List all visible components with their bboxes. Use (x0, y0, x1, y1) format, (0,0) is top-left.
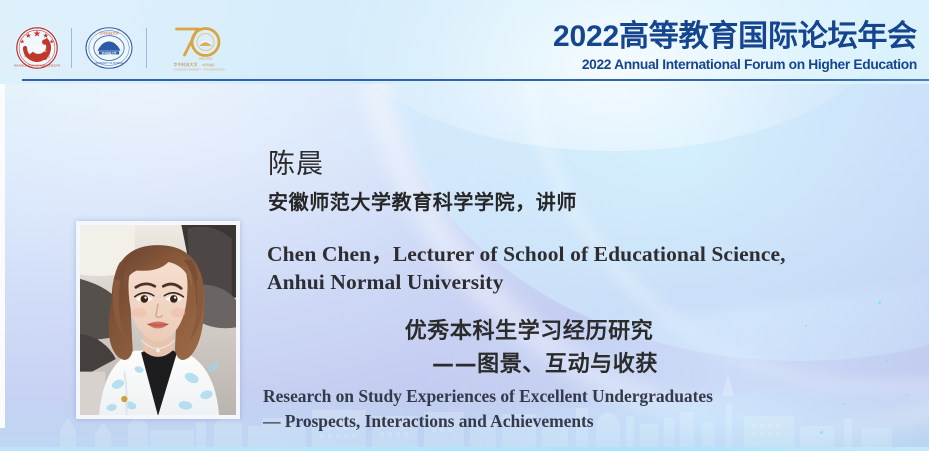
speaker-name-title-en: Chen Chen，Lecturer of School of Educatio… (267, 240, 797, 296)
svg-text:UNIVERSITY OF SCIENCE: UNIVERSITY OF SCIENCE (95, 63, 124, 65)
svg-text:1952-2022: 1952-2022 (198, 57, 213, 61)
speaker-portrait-image (80, 225, 236, 415)
speaker-affiliation-cn: 安徽师范大学教育科学学院，讲师 (268, 189, 577, 215)
header-divider-rule (22, 79, 929, 81)
logo-strip: CAHE 中国高等教育学会 CHINA ASSOCIATION OF HIGHE… (14, 22, 234, 74)
topic-title-en: Research on Study Experiences of Excelle… (263, 384, 823, 434)
svg-text:中国高等教育学会: 中国高等教育学会 (24, 53, 51, 58)
presentation-slide: CAHE 中国高等教育学会 CHINA ASSOCIATION OF HIGHE… (0, 0, 929, 451)
svg-text:HUAZHONG UNIVERSITY · 70TH A: HUAZHONG UNIVERSITY · 70TH ANNIVERSARY (174, 69, 227, 72)
forum-title-block: 2022高等教育国际论坛年会 2022 Annual International… (553, 20, 917, 73)
forum-title-cn: 2022高等教育国际论坛年会 (553, 20, 917, 53)
topic-title-cn-line2: ——图景、互动与收获 (268, 348, 790, 381)
svg-text:华中科技大学: 华中科技大学 (174, 61, 198, 67)
university-seal-icon: 华中科技大学 华中科技大学 UNIVERSITY OF SCIENCE (83, 25, 135, 71)
topic-title-en-line2: — Prospects, Interactions and Achievemen… (263, 409, 823, 434)
topic-title-en-line1: Research on Study Experiences of Excelle… (263, 384, 823, 409)
anniversary-70-icon: 1952-2022 华中科技大学 70周年校庆 HUAZHONG UNIVERS… (158, 22, 234, 74)
logo-divider (71, 28, 72, 68)
slide-header: CAHE 中国高等教育学会 CHINA ASSOCIATION OF HIGHE… (0, 0, 929, 84)
svg-text:华中科技大学: 华中科技大学 (102, 51, 117, 55)
forum-title-en: 2022 Annual International Forum on Highe… (559, 55, 917, 73)
svg-text:CHINA ASSOCIATION OF HIGHER ED: CHINA ASSOCIATION OF HIGHER EDUCATION (14, 64, 60, 67)
topic-title-cn: 优秀本科生学习经历研究 ——图景、互动与收获 (268, 315, 790, 381)
speaker-photo-frame (76, 221, 240, 419)
cahe-logo: CAHE 中国高等教育学会 CHINA ASSOCIATION OF HIGHE… (14, 25, 60, 71)
speaker-name-cn: 陈晨 (268, 148, 324, 182)
70th-anniversary-logo: 1952-2022 华中科技大学 70周年校庆 HUAZHONG UNIVERS… (158, 22, 234, 74)
huazhong-university-logo: 华中科技大学 华中科技大学 UNIVERSITY OF SCIENCE (83, 25, 135, 71)
svg-text:CAHE: CAHE (27, 47, 47, 54)
svg-text:华中科技大学: 华中科技大学 (99, 31, 119, 36)
logo-divider (146, 28, 147, 68)
svg-text:70周年校庆: 70周年校庆 (202, 63, 216, 67)
speaker-portrait (80, 225, 236, 415)
topic-title-cn-line1: 优秀本科生学习经历研究 (405, 319, 654, 344)
cahe-logo-icon: CAHE 中国高等教育学会 CHINA ASSOCIATION OF HIGHE… (14, 25, 60, 71)
